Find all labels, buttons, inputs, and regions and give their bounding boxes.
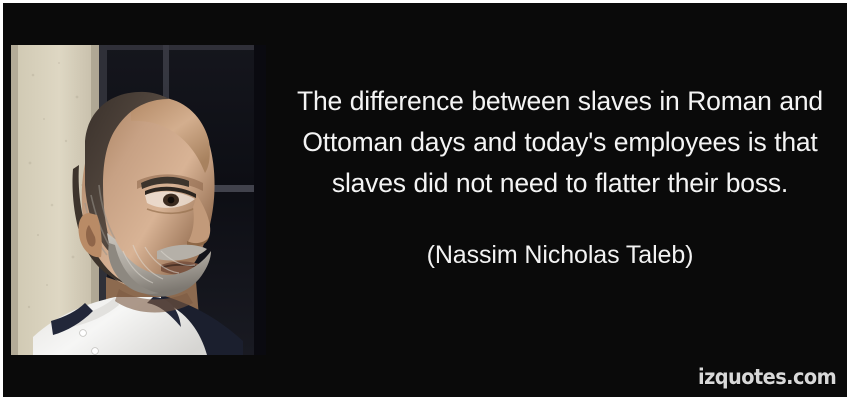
- portrait-photo: [11, 45, 266, 355]
- quote-card: The difference between slaves in Roman a…: [0, 0, 850, 400]
- quote-text: The difference between slaves in Roman a…: [284, 81, 836, 204]
- portrait-illustration: [11, 45, 266, 355]
- quote-text-block: The difference between slaves in Roman a…: [284, 81, 836, 270]
- site-watermark[interactable]: izquotes.com: [698, 365, 836, 389]
- quote-attribution: (Nassim Nicholas Taleb): [284, 240, 836, 270]
